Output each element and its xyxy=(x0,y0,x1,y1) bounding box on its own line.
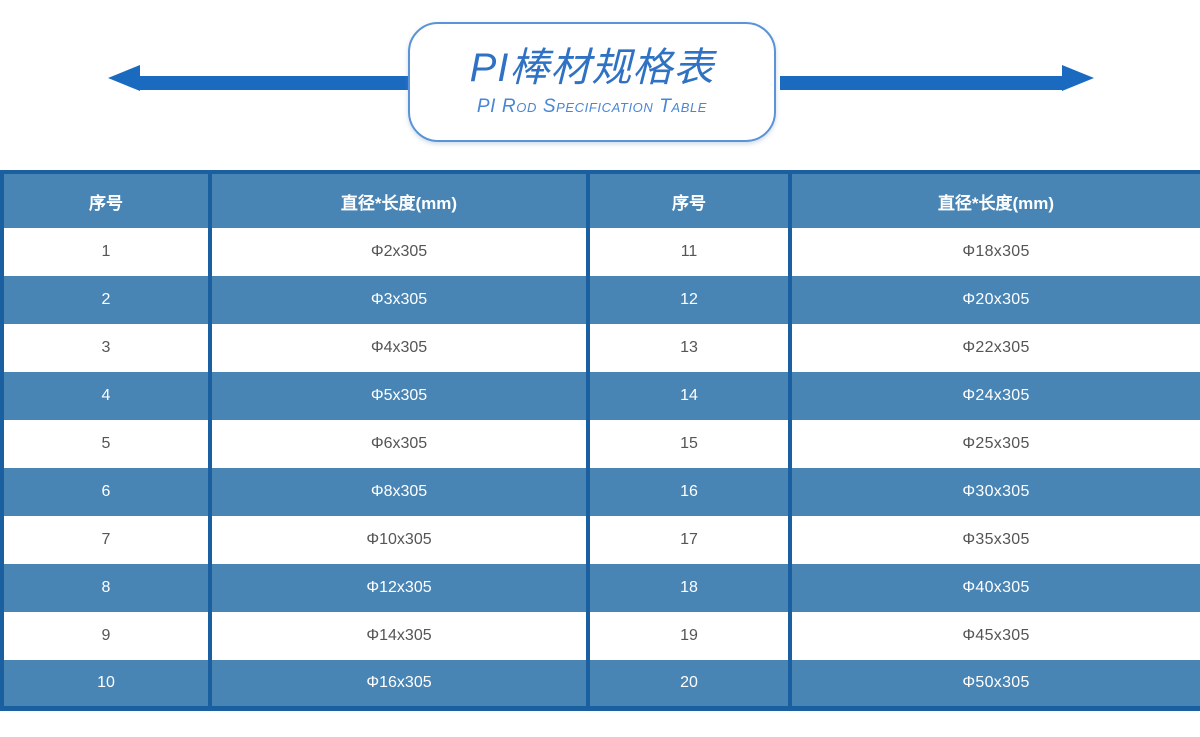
column-header-spec-1: 直径*长度(mm) xyxy=(210,172,588,228)
table-row: 3Φ4x30513Φ22x305 xyxy=(2,324,1200,372)
cell-spec-2: Φ35x305 xyxy=(790,516,1200,564)
cell-spec-2: Φ18x305 xyxy=(790,228,1200,276)
cell-spec-2: Φ20x305 xyxy=(790,276,1200,324)
cell-spec-1: Φ8x305 xyxy=(210,468,588,516)
arrow-right-shaft xyxy=(780,76,1062,90)
cell-index-2: 16 xyxy=(588,468,790,516)
table-row: 5Φ6x30515Φ25x305 xyxy=(2,420,1200,468)
cell-spec-2: Φ50x305 xyxy=(790,660,1200,708)
cell-index-1: 8 xyxy=(2,564,210,612)
cell-index-2: 19 xyxy=(588,612,790,660)
cell-spec-1: Φ10x305 xyxy=(210,516,588,564)
cell-index-2: 13 xyxy=(588,324,790,372)
cell-index-1: 3 xyxy=(2,324,210,372)
cell-index-1: 1 xyxy=(2,228,210,276)
cell-index-2: 14 xyxy=(588,372,790,420)
cell-spec-1: Φ6x305 xyxy=(210,420,588,468)
cell-index-2: 18 xyxy=(588,564,790,612)
table-row: 7Φ10x30517Φ35x305 xyxy=(2,516,1200,564)
cell-spec-1: Φ12x305 xyxy=(210,564,588,612)
cell-spec-2: Φ40x305 xyxy=(790,564,1200,612)
banner: PI棒材规格表 PI Rod Specification Table xyxy=(0,0,1200,168)
cell-spec-1: Φ14x305 xyxy=(210,612,588,660)
cell-index-2: 12 xyxy=(588,276,790,324)
arrow-right-head xyxy=(1062,65,1094,91)
spec-table-container: 序号 直径*长度(mm) 序号 直径*长度(mm) 1Φ2x30511Φ18x3… xyxy=(0,170,1200,711)
arrow-left-head xyxy=(108,65,140,91)
column-header-index-2: 序号 xyxy=(588,172,790,228)
cell-spec-1: Φ5x305 xyxy=(210,372,588,420)
cell-spec-1: Φ2x305 xyxy=(210,228,588,276)
cell-index-2: 20 xyxy=(588,660,790,708)
column-header-index-1: 序号 xyxy=(2,172,210,228)
table-row: 10Φ16x30520Φ50x305 xyxy=(2,660,1200,708)
cell-index-2: 15 xyxy=(588,420,790,468)
cell-index-2: 11 xyxy=(588,228,790,276)
table-row: 2Φ3x30512Φ20x305 xyxy=(2,276,1200,324)
cell-index-1: 2 xyxy=(2,276,210,324)
cell-index-1: 6 xyxy=(2,468,210,516)
cell-index-1: 5 xyxy=(2,420,210,468)
table-body: 1Φ2x30511Φ18x3052Φ3x30512Φ20x3053Φ4x3051… xyxy=(2,228,1200,708)
table-row: 9Φ14x30519Φ45x305 xyxy=(2,612,1200,660)
table-row: 8Φ12x30518Φ40x305 xyxy=(2,564,1200,612)
cell-spec-1: Φ16x305 xyxy=(210,660,588,708)
cell-index-1: 9 xyxy=(2,612,210,660)
cell-index-1: 10 xyxy=(2,660,210,708)
table-row: 1Φ2x30511Φ18x305 xyxy=(2,228,1200,276)
cell-spec-2: Φ45x305 xyxy=(790,612,1200,660)
cell-spec-2: Φ25x305 xyxy=(790,420,1200,468)
title-banner-box: PI棒材规格表 PI Rod Specification Table xyxy=(408,22,776,142)
table-row: 6Φ8x30516Φ30x305 xyxy=(2,468,1200,516)
table-row: 4Φ5x30514Φ24x305 xyxy=(2,372,1200,420)
page-subtitle: PI Rod Specification Table xyxy=(477,96,707,118)
spec-table: 序号 直径*长度(mm) 序号 直径*长度(mm) 1Φ2x30511Φ18x3… xyxy=(0,170,1200,711)
column-header-spec-2: 直径*长度(mm) xyxy=(790,172,1200,228)
cell-index-1: 7 xyxy=(2,516,210,564)
cell-spec-1: Φ4x305 xyxy=(210,324,588,372)
page-title: PI棒材规格表 xyxy=(470,46,715,90)
cell-index-2: 17 xyxy=(588,516,790,564)
cell-index-1: 4 xyxy=(2,372,210,420)
arrow-left-shaft xyxy=(138,76,420,90)
cell-spec-2: Φ30x305 xyxy=(790,468,1200,516)
table-header-row: 序号 直径*长度(mm) 序号 直径*长度(mm) xyxy=(2,172,1200,228)
cell-spec-1: Φ3x305 xyxy=(210,276,588,324)
cell-spec-2: Φ22x305 xyxy=(790,324,1200,372)
cell-spec-2: Φ24x305 xyxy=(790,372,1200,420)
table-header: 序号 直径*长度(mm) 序号 直径*长度(mm) xyxy=(2,172,1200,228)
